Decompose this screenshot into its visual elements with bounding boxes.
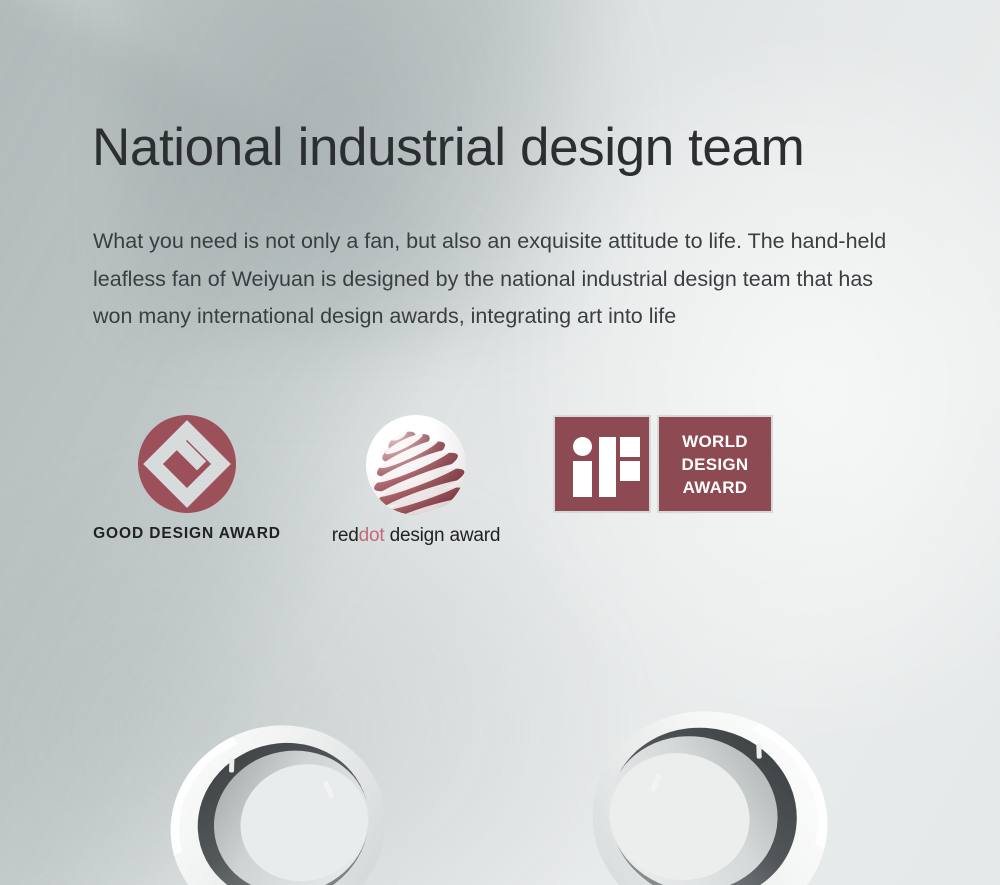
if-logo-line-1: WORLD [682,430,748,453]
if-logo-line-2: DESIGN [682,453,749,476]
awards-row: GOOD DESIGN AWARD [92,415,792,560]
if-logo-line-3: AWARD [683,476,748,499]
award-reddot-caption: reddot design award [316,525,516,547]
if-logo-text-panel: WORLD DESIGN AWARD [657,415,773,513]
if-logo-icon: WORLD DESIGN AWARD [553,415,775,513]
reddot-sphere-body [366,415,466,515]
award-reddot-caption-dot: dot [359,525,385,546]
award-reddot-caption-red: red [332,525,359,546]
award-reddot-caption-rest: design award [385,525,501,546]
if-letter-i-stem [573,461,592,497]
if-letter-f-stem [599,437,616,497]
g-mark-circle-icon [138,415,236,513]
product-marketing-page: National industrial design team What you… [0,0,1000,885]
if-logo-letters-panel [553,415,651,513]
if-letter-f-arm-top [620,437,640,457]
page-title: National industrial design team [92,119,804,176]
reddot-sphere-icon [366,415,466,515]
award-if-world-design: WORLD DESIGN AWARD [553,415,775,513]
if-letter-i-dot [573,437,592,456]
award-good-design: GOOD DESIGN AWARD [92,415,282,543]
page-description: What you need is not only a fan, but als… [93,223,893,336]
award-good-design-caption: GOOD DESIGN AWARD [92,525,282,543]
award-reddot: reddot design award [316,415,516,547]
if-letter-f-arm-mid [620,461,640,481]
